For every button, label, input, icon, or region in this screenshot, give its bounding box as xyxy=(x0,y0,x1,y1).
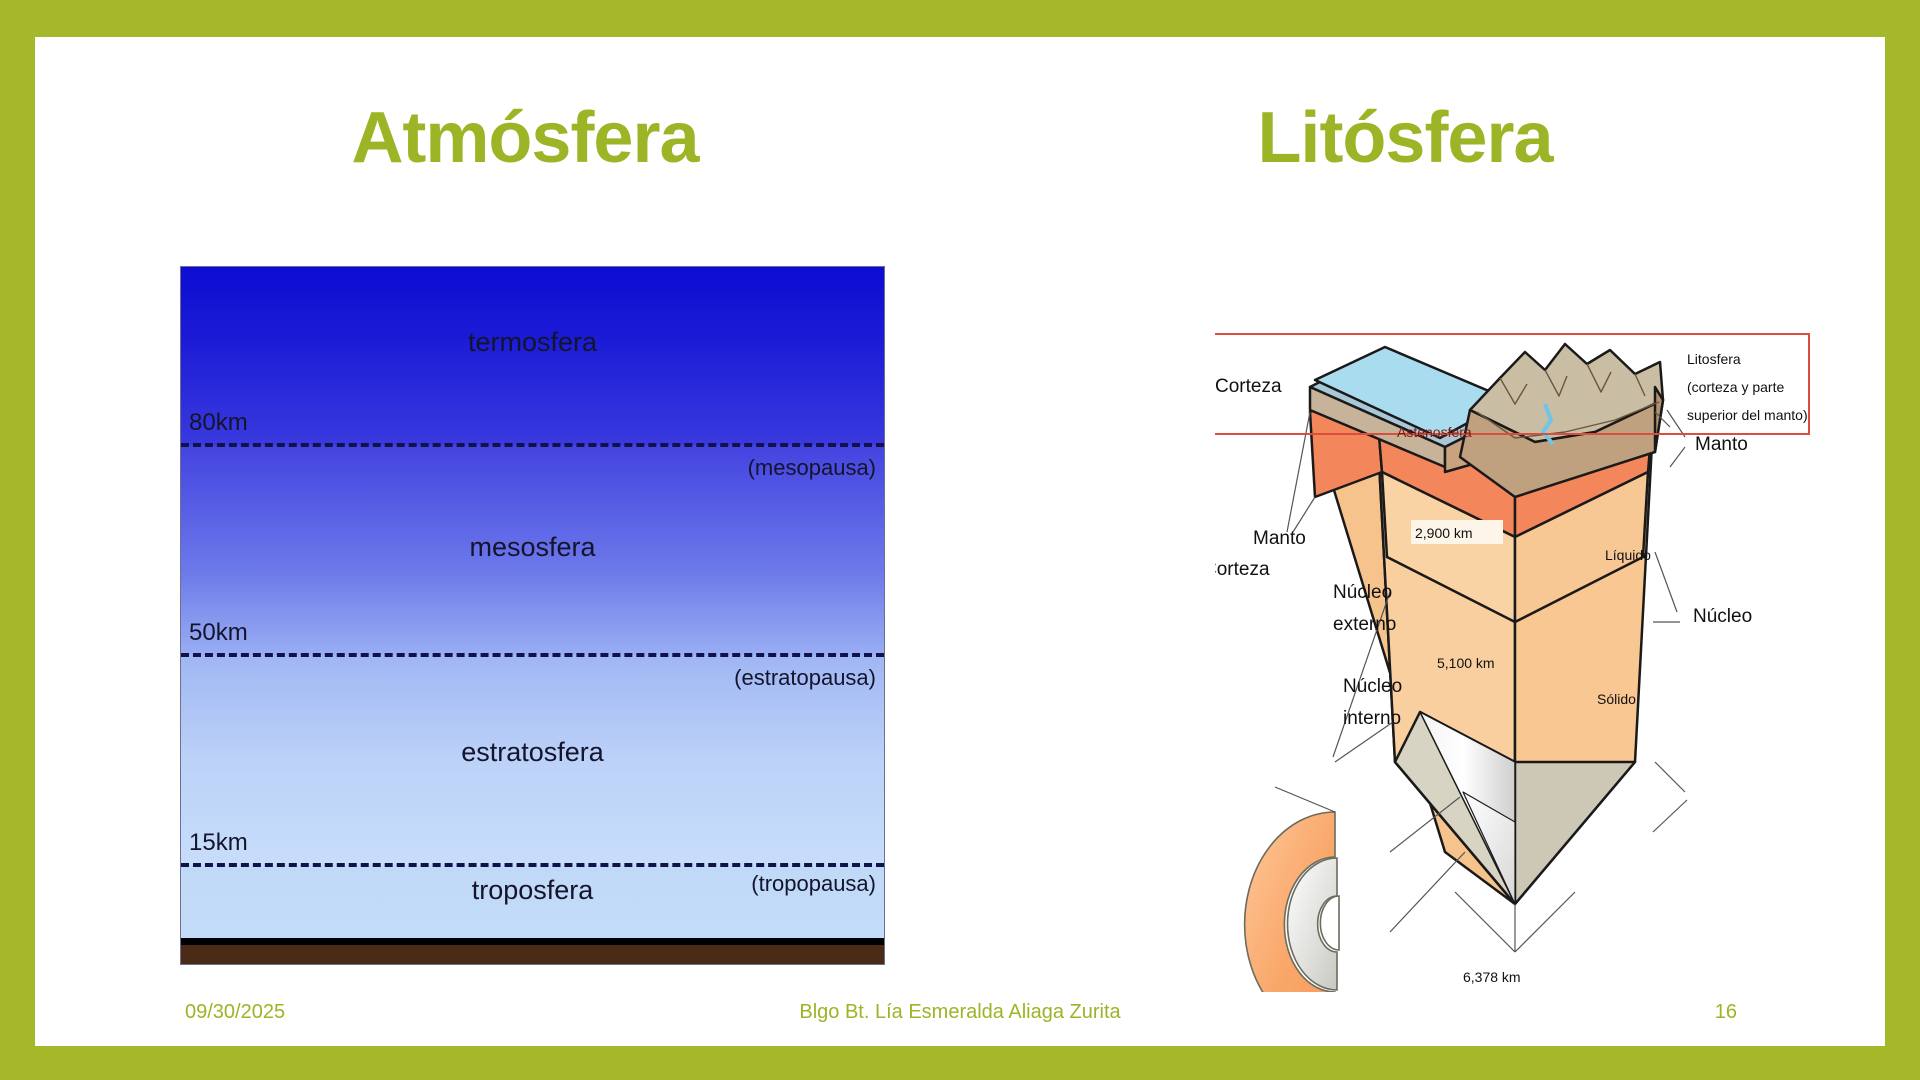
altitude-label-50km: 50km xyxy=(189,619,248,647)
label-manto-left: Manto xyxy=(1253,528,1306,549)
altitude-label-80km: 80km xyxy=(189,409,248,437)
atmosphere-diagram: termosfera mesosfera estratosfera tropos… xyxy=(181,267,884,964)
label-nucleo-right: Núcleo xyxy=(1693,606,1752,627)
label-nucleo-interno-line2: interno xyxy=(1343,708,1401,729)
label-mesopause: (mesopausa) xyxy=(748,455,876,481)
label-corteza-left: Corteza xyxy=(1215,559,1270,580)
boundary-mesopause-line xyxy=(181,443,884,447)
label-tropopause: (tropopausa) xyxy=(751,871,876,897)
label-litosfera-line3: superior del manto) xyxy=(1687,407,1808,423)
depth-label-6378km: 6,378 km xyxy=(1463,969,1521,985)
label-nucleo-externo-line2: externo xyxy=(1333,614,1396,635)
earth-ball-cutaway xyxy=(1245,812,1339,992)
footer-author: Blgo Bt. Lía Esmeralda Aliaga Zurita xyxy=(35,1001,1885,1024)
label-nucleo-interno-line1: Núcleo xyxy=(1343,676,1402,697)
label-mesosphere: mesosfera xyxy=(181,532,884,563)
altitude-label-15km: 15km xyxy=(189,829,248,857)
label-stratosphere: estratosfera xyxy=(181,737,884,768)
label-corteza-top: Corteza xyxy=(1215,376,1282,397)
page-title-atmosphere: Atmósfera xyxy=(195,97,855,179)
label-astenosfera: Astenosfera xyxy=(1397,424,1472,440)
depth-label-2900km: 2,900 km xyxy=(1415,525,1473,541)
slide-canvas: Atmósfera Litósfera termosfera mesosfera… xyxy=(35,37,1885,1046)
depth-label-5100km: 5,100 km xyxy=(1437,655,1495,671)
label-solido: Sólido xyxy=(1597,691,1636,707)
page-title-lithosphere: Litósfera xyxy=(1075,97,1735,179)
ground-soil-band xyxy=(181,945,884,964)
label-nucleo-externo-line1: Núcleo xyxy=(1333,582,1392,603)
outer-core-right xyxy=(1515,762,1635,904)
label-manto-right: Manto xyxy=(1695,434,1748,455)
boundary-stratopause-line xyxy=(181,653,884,657)
label-thermosphere: termosfera xyxy=(181,327,884,358)
footer-page-number: 16 xyxy=(1715,1001,1737,1024)
boundary-tropopause-line xyxy=(181,863,884,867)
label-liquido: Líquido xyxy=(1605,547,1651,563)
lithosphere-diagram: Corteza Litosfera (corteza y parte super… xyxy=(1215,292,1815,992)
label-stratopause: (estratopausa) xyxy=(734,665,876,691)
label-litosfera-line2: (corteza y parte xyxy=(1687,379,1784,395)
label-litosfera-line1: Litosfera xyxy=(1687,351,1741,367)
